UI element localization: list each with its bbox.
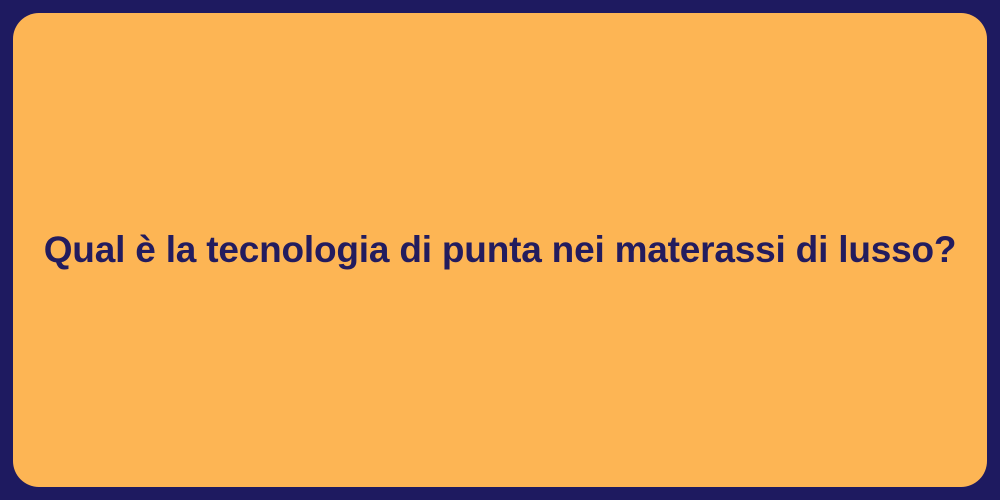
banner-panel: Qual è la tecnologia di punta nei matera…: [13, 13, 987, 487]
headline-question: Qual è la tecnologia di punta nei matera…: [44, 227, 957, 273]
banner-frame: Qual è la tecnologia di punta nei matera…: [0, 0, 1000, 500]
